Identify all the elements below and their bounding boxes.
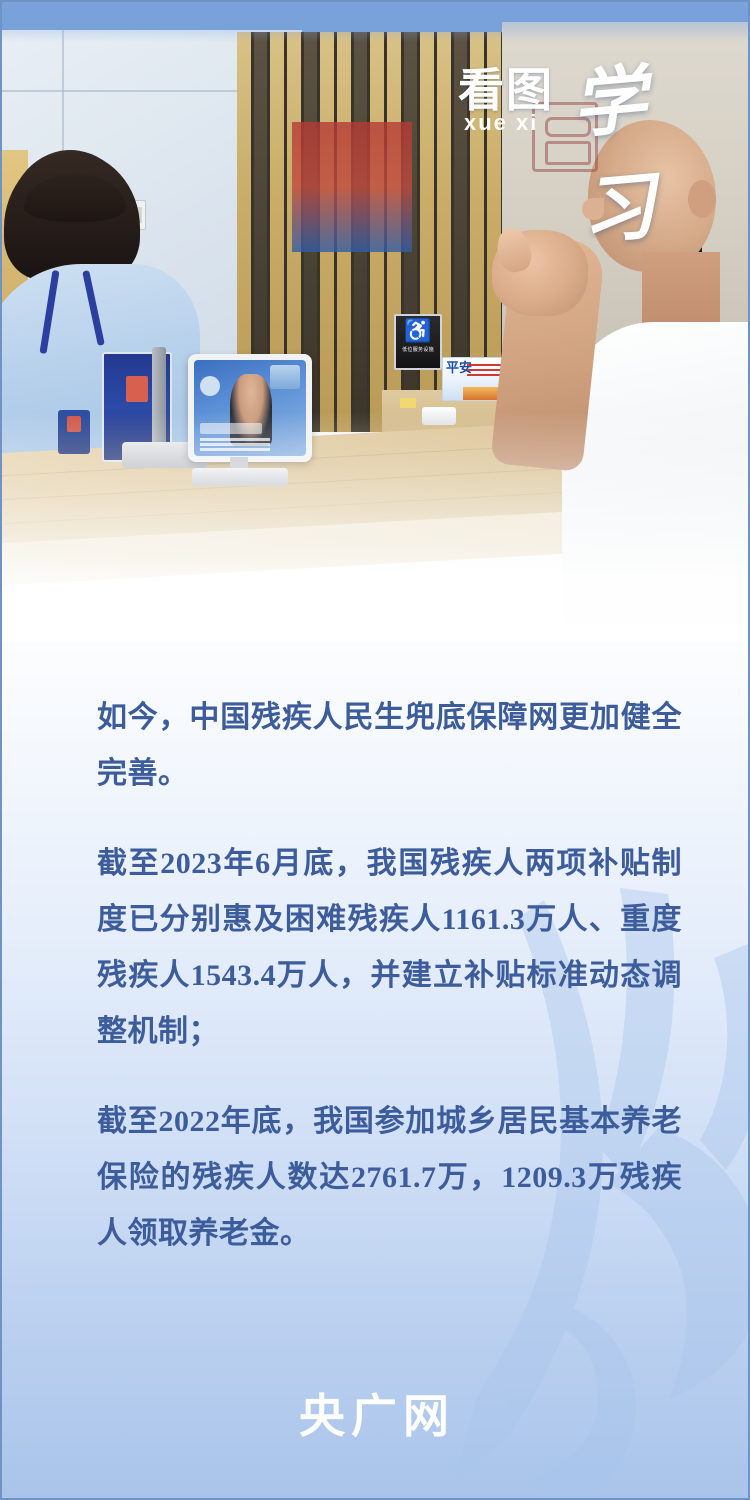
logo-cursive-text: 学习 <box>567 35 717 260</box>
photo-tablet-avatar <box>200 376 220 396</box>
paragraph-3: 截至2022年底，我国参加城乡居民基本养老保险的残疾人数达2761.7万，120… <box>97 1094 682 1262</box>
accessible-sign-label: 低位服务设施 <box>396 346 440 353</box>
logo-pinyin: xue xi <box>464 110 538 136</box>
kantu-xuexi-logo: 看图 xue xi 学习 <box>458 48 708 158</box>
accessible-service-sign: ♿ 低位服务设施 <box>394 314 442 370</box>
photo-background-poster <box>292 122 412 252</box>
footer: 央广网 <box>2 1380 750 1446</box>
paragraph-2: 截至2023年6月底，我国残疾人两项补贴制度已分别惠及困难残疾人1161.3万人… <box>97 836 682 1060</box>
article-body: 如今，中国残疾人民生兜底保障网更加健全完善。 截至2023年6月底，我国残疾人两… <box>97 690 682 1262</box>
photo-tablet-thumbnail <box>270 365 300 389</box>
photo-desk-sticky-note <box>400 398 416 408</box>
paragraph-1: 如今，中国残疾人民生兜底保障网更加健全完善。 <box>97 690 682 802</box>
photo-top-fade <box>2 2 750 42</box>
photo-bottom-fade <box>2 412 750 642</box>
cnr-brand-logo: 央广网 <box>299 1380 455 1446</box>
poster-root: ♿ 低位服务设施 平安 信访代办调解 看图 xue xi 学习 <box>0 0 750 1500</box>
wheelchair-icon: ♿ <box>396 316 440 346</box>
